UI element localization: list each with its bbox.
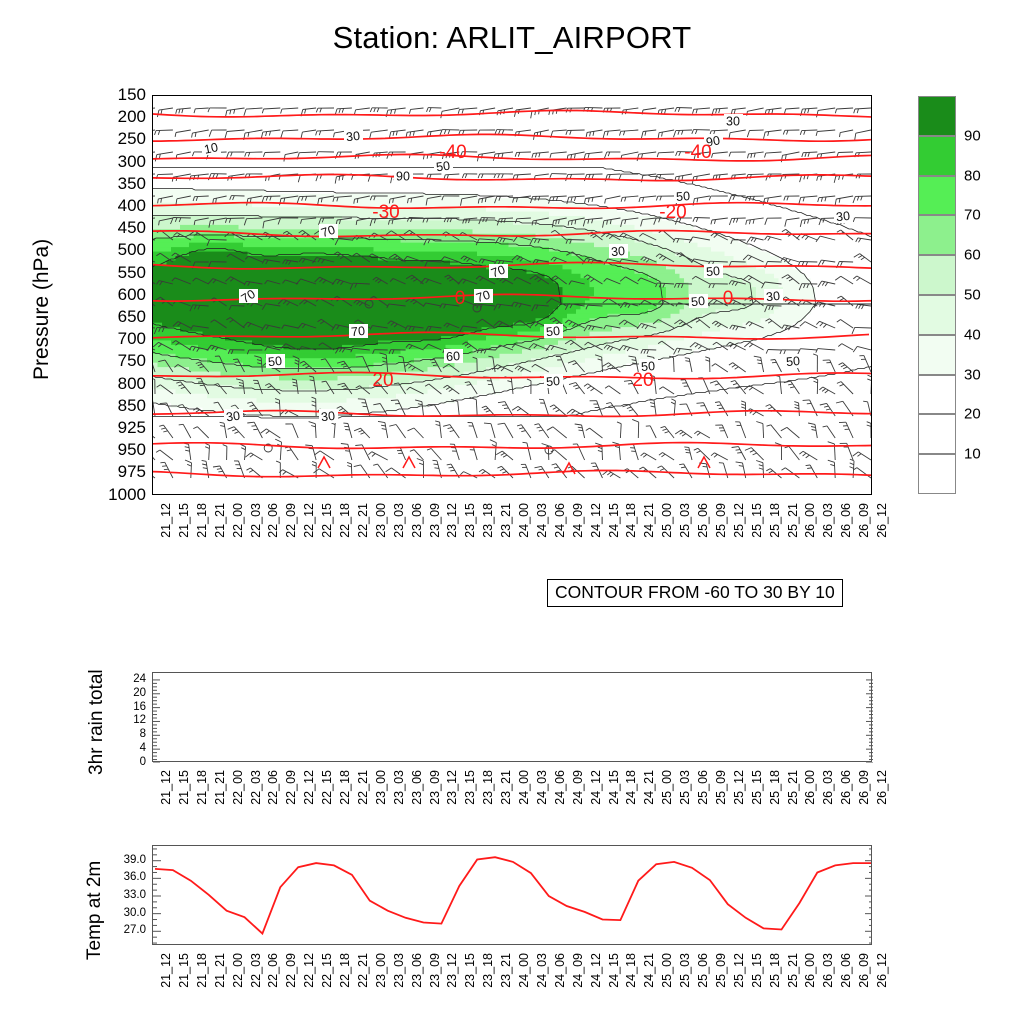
time-tick-label: 25_18	[768, 770, 782, 805]
time-tick-label: 26_06	[839, 503, 853, 538]
time-tick-label: 24_12	[589, 770, 603, 805]
time-tick-label: 24_00	[517, 503, 531, 538]
time-tick-label: 24_06	[553, 953, 567, 988]
time-tick-label: 22_03	[249, 770, 263, 805]
time-tick-label: 22_06	[266, 953, 280, 988]
time-tick-label: 25_03	[678, 503, 692, 538]
time-tick-label: 22_18	[338, 953, 352, 988]
time-tick-label: 24_12	[589, 503, 603, 538]
colorbar-cell	[918, 414, 956, 454]
colorbar-cell	[918, 335, 956, 375]
time-tick-label: 23_03	[392, 770, 406, 805]
time-tick-label: 22_12	[302, 503, 316, 538]
time-tick-label: 23_18	[481, 503, 495, 538]
time-tick-label: 23_00	[374, 503, 388, 538]
time-tick-label: 22_21	[356, 953, 370, 988]
time-tick-label: 22_15	[320, 770, 334, 805]
time-tick-label: 21_12	[159, 503, 173, 538]
main-y-axis-title: Pressure (hPa)	[30, 239, 54, 380]
time-tick-label: 21_15	[177, 953, 191, 988]
time-tick-label: 25_15	[750, 770, 764, 805]
page-title: Station: ARLIT_AIRPORT	[0, 20, 1024, 56]
time-tick-label: 26_09	[857, 770, 871, 805]
pressure-tick-label: 750	[118, 351, 146, 371]
time-tick-label: 22_00	[231, 770, 245, 805]
colorbar-tick-label: 50	[964, 287, 981, 304]
time-tick-label: 24_00	[517, 953, 531, 988]
pressure-tick-label: 800	[118, 374, 146, 394]
rain-tick-label: 24	[133, 673, 146, 685]
time-tick-label: 25_06	[696, 953, 710, 988]
time-tick-label: 22_03	[249, 503, 263, 538]
pressure-tick-label: 300	[118, 152, 146, 172]
time-tick-label: 22_00	[231, 953, 245, 988]
colorbar-tick-label: 20	[964, 406, 981, 423]
rain-x-axis-labels: 21_1221_1521_1821_2122_0022_0322_0622_09…	[152, 770, 872, 840]
time-tick-label: 22_18	[338, 503, 352, 538]
time-tick-label: 25_21	[786, 503, 800, 538]
time-tick-label: 26_12	[875, 503, 889, 538]
temp-tick-label: 27.0	[124, 924, 146, 936]
time-tick-label: 21_18	[195, 503, 209, 538]
time-tick-label: 25_00	[660, 953, 674, 988]
time-tick-label: 23_15	[463, 770, 477, 805]
pressure-tick-label: 350	[118, 174, 146, 194]
time-tick-label: 22_21	[356, 770, 370, 805]
time-tick-label: 25_15	[750, 953, 764, 988]
time-tick-label: 26_09	[857, 953, 871, 988]
rain-y-axis-title: 3hr rain total	[86, 669, 108, 775]
time-tick-label: 21_21	[213, 503, 227, 538]
time-tick-label: 24_18	[624, 953, 638, 988]
pressure-tick-label: 450	[118, 218, 146, 238]
time-tick-label: 22_12	[302, 953, 316, 988]
time-tick-label: 22_15	[320, 953, 334, 988]
time-tick-label: 26_03	[821, 770, 835, 805]
rain-tick-label: 20	[133, 687, 146, 699]
time-tick-label: 26_12	[875, 770, 889, 805]
time-tick-label: 21_21	[213, 953, 227, 988]
pressure-tick-label: 150	[118, 85, 146, 105]
pressure-tick-label: 650	[118, 307, 146, 327]
pressure-tick-label: 975	[118, 462, 146, 482]
time-tick-label: 23_21	[499, 503, 513, 538]
time-tick-label: 24_03	[535, 503, 549, 538]
time-tick-label: 24_09	[571, 503, 585, 538]
colorbar-tick-label: 80	[964, 167, 981, 184]
rain-plot-frame	[152, 672, 872, 762]
temp-plot-svg	[153, 846, 872, 945]
time-tick-label: 23_06	[410, 770, 424, 805]
time-tick-label: 23_03	[392, 503, 406, 538]
time-tick-label: 22_18	[338, 770, 352, 805]
rain-panel	[152, 672, 872, 762]
contour-legend: CONTOUR FROM -60 TO 30 BY 10	[547, 579, 843, 607]
time-tick-label: 24_15	[607, 953, 621, 988]
time-tick-label: 24_00	[517, 770, 531, 805]
time-tick-label: 22_09	[284, 503, 298, 538]
pressure-tick-label: 400	[118, 196, 146, 216]
time-tick-label: 22_21	[356, 503, 370, 538]
time-tick-label: 25_03	[678, 953, 692, 988]
time-tick-label: 25_06	[696, 503, 710, 538]
time-tick-label: 24_21	[642, 953, 656, 988]
colorbar-cell	[918, 255, 956, 295]
time-tick-label: 22_06	[266, 770, 280, 805]
rain-y-axis-labels: 04812162024	[108, 672, 146, 762]
time-tick-label: 25_15	[750, 503, 764, 538]
time-tick-label: 24_18	[624, 770, 638, 805]
time-tick-label: 25_00	[660, 770, 674, 805]
rain-tick-label: 8	[140, 728, 146, 740]
time-tick-label: 25_12	[732, 503, 746, 538]
temp-tick-label: 30.0	[124, 907, 146, 919]
time-tick-label: 26_00	[803, 503, 817, 538]
temp-tick-label: 36.0	[124, 871, 146, 883]
colorbar-cell	[918, 176, 956, 216]
time-tick-label: 22_03	[249, 953, 263, 988]
pressure-tick-label: 850	[118, 396, 146, 416]
pressure-tick-label: 500	[118, 240, 146, 260]
main-plot-frame: 1030307090705070503050905070605030503050…	[152, 95, 872, 495]
time-tick-label: 23_00	[374, 770, 388, 805]
time-tick-label: 23_12	[445, 503, 459, 538]
time-tick-label: 25_09	[714, 953, 728, 988]
colorbar-cell	[918, 375, 956, 415]
time-tick-label: 22_00	[231, 503, 245, 538]
colorbar-tick-label: 30	[964, 366, 981, 383]
time-tick-label: 23_06	[410, 953, 424, 988]
time-tick-label: 24_21	[642, 503, 656, 538]
time-tick-label: 22_09	[284, 953, 298, 988]
colorbar: 908070605040302010	[918, 96, 956, 494]
colorbar-cell	[918, 96, 956, 136]
time-tick-label: 24_06	[553, 770, 567, 805]
main-x-axis-labels: 21_1221_1521_1821_2122_0022_0322_0622_09…	[152, 503, 872, 573]
main-cross-section-panel: 1030307090705070503050905070605030503050…	[152, 95, 872, 495]
time-tick-label: 25_18	[768, 503, 782, 538]
time-tick-label: 26_06	[839, 770, 853, 805]
temp-tick-label: 33.0	[124, 889, 146, 901]
time-tick-label: 25_12	[732, 953, 746, 988]
time-tick-label: 25_12	[732, 770, 746, 805]
rain-tick-label: 16	[133, 701, 146, 713]
rain-plot-svg	[153, 673, 873, 763]
time-tick-label: 24_03	[535, 770, 549, 805]
time-tick-label: 23_15	[463, 503, 477, 538]
time-tick-label: 23_21	[499, 953, 513, 988]
colorbar-tick-label: 60	[964, 247, 981, 264]
main-y-axis-labels: 1502002503003504004505005506006507007508…	[86, 95, 146, 495]
main-plot-svg: 1030307090705070503050905070605030503050…	[153, 96, 872, 495]
colorbar-cell	[918, 215, 956, 255]
time-tick-label: 23_09	[428, 770, 442, 805]
temp-panel	[152, 845, 872, 945]
time-tick-label: 24_15	[607, 770, 621, 805]
pressure-tick-label: 1000	[108, 485, 146, 505]
time-tick-label: 24_15	[607, 503, 621, 538]
time-tick-label: 26_00	[803, 953, 817, 988]
time-tick-label: 21_18	[195, 770, 209, 805]
time-tick-label: 26_00	[803, 770, 817, 805]
time-tick-label: 25_21	[786, 770, 800, 805]
time-tick-label: 23_12	[445, 953, 459, 988]
time-tick-label: 22_15	[320, 503, 334, 538]
pressure-tick-label: 200	[118, 107, 146, 127]
time-tick-label: 21_15	[177, 770, 191, 805]
pressure-tick-label: 600	[118, 285, 146, 305]
time-tick-label: 23_12	[445, 770, 459, 805]
time-tick-label: 23_09	[428, 503, 442, 538]
temp-y-axis-labels: 27.030.033.036.039.0	[100, 845, 146, 945]
time-tick-label: 25_00	[660, 503, 674, 538]
time-tick-label: 25_18	[768, 953, 782, 988]
time-tick-label: 25_06	[696, 770, 710, 805]
time-tick-label: 22_12	[302, 770, 316, 805]
pressure-tick-label: 925	[118, 418, 146, 438]
temp-tick-label: 39.0	[124, 854, 146, 866]
temp-plot-frame	[152, 845, 872, 945]
time-tick-label: 23_00	[374, 953, 388, 988]
pressure-tick-label: 250	[118, 129, 146, 149]
pressure-tick-label: 700	[118, 329, 146, 349]
colorbar-cell	[918, 136, 956, 176]
time-tick-label: 23_15	[463, 953, 477, 988]
rain-tick-label: 4	[140, 742, 146, 754]
time-tick-label: 21_18	[195, 953, 209, 988]
colorbar-tick-label: 70	[964, 207, 981, 224]
colorbar-tick-label: 40	[964, 326, 981, 343]
time-tick-label: 24_09	[571, 770, 585, 805]
chart-page: Station: ARLIT_AIRPORT Pressure (hPa) 15…	[0, 0, 1024, 1024]
time-tick-label: 21_12	[159, 953, 173, 988]
pressure-tick-label: 550	[118, 263, 146, 283]
temp-x-axis-labels: 21_1221_1521_1821_2122_0022_0322_0622_09…	[152, 953, 872, 1023]
time-tick-label: 24_12	[589, 953, 603, 988]
colorbar-tick-label: 90	[964, 127, 981, 144]
time-tick-label: 25_09	[714, 770, 728, 805]
pressure-tick-label: 950	[118, 440, 146, 460]
time-tick-label: 23_09	[428, 953, 442, 988]
time-tick-label: 21_12	[159, 770, 173, 805]
time-tick-label: 22_09	[284, 770, 298, 805]
colorbar-cell	[918, 454, 956, 494]
time-tick-label: 23_18	[481, 953, 495, 988]
time-tick-label: 21_21	[213, 770, 227, 805]
time-tick-label: 23_03	[392, 953, 406, 988]
time-tick-label: 25_21	[786, 953, 800, 988]
colorbar-tick-label: 10	[964, 446, 981, 463]
time-tick-label: 26_03	[821, 953, 835, 988]
rain-tick-label: 0	[140, 756, 146, 768]
time-tick-label: 24_06	[553, 503, 567, 538]
colorbar-cell	[918, 295, 956, 335]
time-tick-label: 26_09	[857, 503, 871, 538]
time-tick-label: 24_09	[571, 953, 585, 988]
time-tick-label: 24_21	[642, 770, 656, 805]
time-tick-label: 22_06	[266, 503, 280, 538]
time-tick-label: 23_06	[410, 503, 424, 538]
time-tick-label: 25_09	[714, 503, 728, 538]
time-tick-label: 26_12	[875, 953, 889, 988]
time-tick-label: 24_03	[535, 953, 549, 988]
time-tick-label: 21_15	[177, 503, 191, 538]
time-tick-label: 24_18	[624, 503, 638, 538]
time-tick-label: 26_06	[839, 953, 853, 988]
rain-tick-label: 12	[133, 714, 146, 726]
time-tick-label: 25_03	[678, 770, 692, 805]
time-tick-label: 23_21	[499, 770, 513, 805]
time-tick-label: 23_18	[481, 770, 495, 805]
time-tick-label: 26_03	[821, 503, 835, 538]
